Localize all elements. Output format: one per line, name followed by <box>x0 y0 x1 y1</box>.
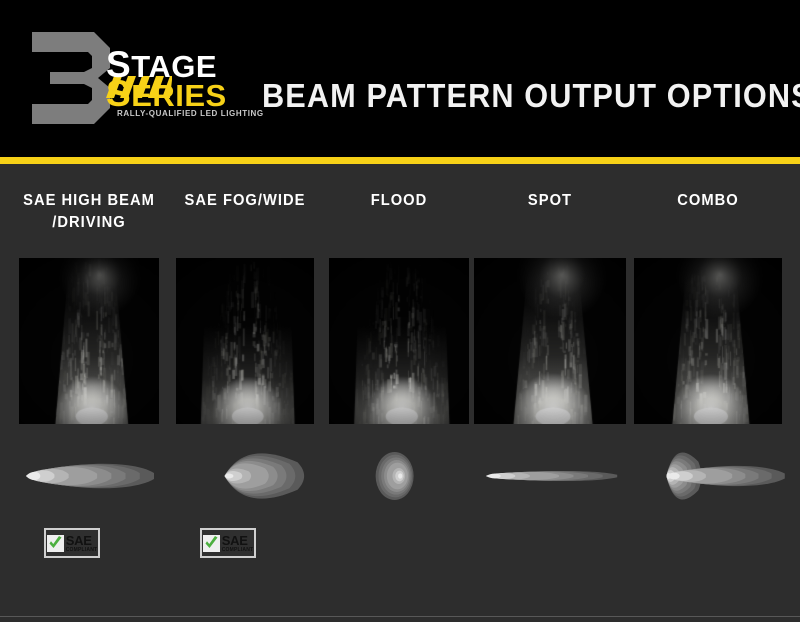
badge-subtitle: COMPLIANT <box>66 548 98 553</box>
beam-shape-icon <box>628 446 788 506</box>
beam-shape-icon <box>172 446 318 506</box>
column-label-flood: FLOOD <box>332 190 466 212</box>
check-icon <box>47 535 64 552</box>
badge-title: SAE <box>222 534 248 547</box>
page-title: BEAM PATTERN OUTPUT OPTIONS <box>262 77 753 115</box>
beam-column-sae-high-beam-driving[interactable]: SAE HIGH BEAM/DRIVINGSAECOMPLIANT <box>16 164 162 622</box>
logo-word-series-initial: S <box>106 73 131 114</box>
beam-shape-icon <box>326 446 472 506</box>
badge-text: SAECOMPLIANT <box>66 534 98 553</box>
badge-title: SAE <box>66 534 92 547</box>
beam-photo-sae-fog-wide <box>176 258 314 424</box>
column-label-combo: COMBO <box>634 190 781 212</box>
beam-photo-sae-high-beam-driving <box>19 258 159 424</box>
poster-header: STAGE SERIES RALLY-QUALIFIED LED LIGHTIN… <box>0 0 800 157</box>
footer-rule <box>0 616 800 617</box>
badge-text: SAECOMPLIANT <box>222 534 254 553</box>
column-label-line1: SPOT <box>476 190 623 212</box>
logo-word-series: SERIES <box>106 75 227 112</box>
beam-diagram-sae-high-beam-driving <box>16 446 162 511</box>
column-label-line1: FLOOD <box>332 190 466 212</box>
badge-subtitle: COMPLIANT <box>222 548 254 553</box>
beam-shape-icon <box>470 446 630 506</box>
beam-diagram-spot <box>470 446 630 511</box>
beam-column-spot[interactable]: SPOT <box>470 164 630 622</box>
column-label-line1: COMBO <box>634 190 781 212</box>
logo-wordmark: STAGE SERIES RALLY-QUALIFIED LED LIGHTIN… <box>106 46 246 118</box>
stage-series-logo: STAGE SERIES RALLY-QUALIFIED LED LIGHTIN… <box>28 28 243 133</box>
beam-photo-spot <box>474 258 626 424</box>
beam-column-sae-fog-wide[interactable]: SAE FOG/WIDESAECOMPLIANT <box>172 164 318 622</box>
beam-pattern-poster: STAGE SERIES RALLY-QUALIFIED LED LIGHTIN… <box>0 0 800 622</box>
column-label-sae-fog-wide: SAE FOG/WIDE <box>178 190 312 212</box>
beam-diagram-combo <box>628 446 788 511</box>
beam-photo-combo <box>634 258 782 424</box>
beam-column-combo[interactable]: COMBO <box>628 164 788 622</box>
beam-column-flood[interactable]: FLOOD <box>326 164 472 622</box>
beam-shape-icon <box>16 446 162 506</box>
beam-diagram-flood <box>326 446 472 511</box>
beam-photo-flood <box>329 258 469 424</box>
sae-compliant-badge-sae-high-beam-driving: SAECOMPLIANT <box>44 528 100 558</box>
sae-compliant-badge-sae-fog-wide: SAECOMPLIANT <box>200 528 256 558</box>
header-accent-rule <box>0 157 800 164</box>
check-icon <box>203 535 220 552</box>
beam-diagram-sae-fog-wide <box>172 446 318 511</box>
column-label-spot: SPOT <box>476 190 623 212</box>
column-label-sae-high-beam-driving: SAE HIGH BEAM/DRIVING <box>22 190 156 233</box>
column-label-line2: /DRIVING <box>22 212 156 234</box>
column-label-line1: SAE FOG/WIDE <box>178 190 312 212</box>
column-label-line1: SAE HIGH BEAM <box>22 190 156 212</box>
beam-pattern-columns: SAE HIGH BEAM/DRIVINGSAECOMPLIANTSAE FOG… <box>0 164 800 622</box>
logo-tagline: RALLY-QUALIFIED LED LIGHTING <box>117 109 264 118</box>
logo-word-series-rest: ERIES <box>131 78 227 113</box>
